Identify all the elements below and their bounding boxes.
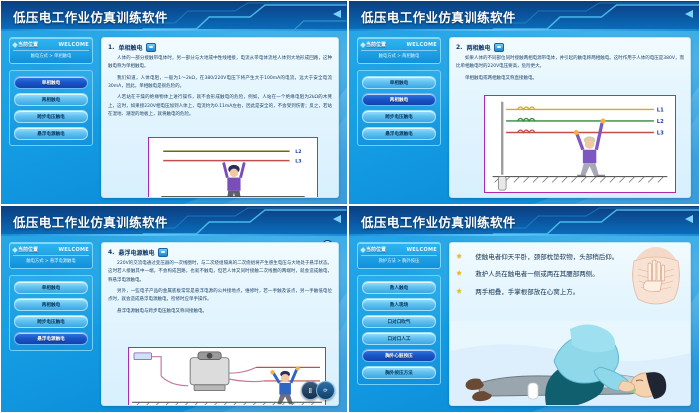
section-heading: 1. 单相触电 <box>108 43 332 52</box>
sidebar-header: 当前位置 WELCOME 触电方式 > 两相触电 <box>357 37 441 64</box>
two-phase-shock-figure: L1 L2 L3 <box>484 95 676 193</box>
app-title: 低压电工作业仿真训练软件 <box>361 212 516 231</box>
sidebar: 当前位置 WELCOME 救护方法 > 胸外按压 救人触电 救人现场 口对口吹气… <box>357 242 441 406</box>
arrow-left-icon[interactable] <box>333 10 341 18</box>
book-icon <box>494 43 504 52</box>
svg-text:L2: L2 <box>295 149 301 155</box>
star-icon: ★ <box>456 253 462 260</box>
app-header: 低压电工作业仿真训练软件 <box>349 1 699 31</box>
diamond-icon <box>360 247 366 253</box>
svg-text:L2: L2 <box>657 119 664 125</box>
sidebar-item-2[interactable]: 救人现场 <box>362 298 436 311</box>
chest-anatomy-figure <box>624 245 688 307</box>
paragraph-2: 单相触电或两相触电又称直接触电。 <box>456 75 684 83</box>
slide-stage: 当前位置 WELCOME 救护方法 > 胸外按压 救人触电 救人现场 口对口吹气… <box>349 236 699 412</box>
location-indicator: 当前位置 <box>13 41 38 48</box>
location-label: 当前位置 <box>366 246 386 253</box>
sidebar-item-1[interactable]: 单相触电 <box>14 281 88 294</box>
sidebar-menu: 单相触电 两相触电 跨步电压触电 悬浮电源触电 <box>357 70 441 146</box>
sidebar-item-3[interactable]: 跨步电压触电 <box>362 110 436 123</box>
refresh-button[interactable]: ⟳ <box>316 381 335 400</box>
location-label: 当前位置 <box>366 41 386 48</box>
paragraph-2: 另外，一些电子产品的金属底板常常是悬浮电源的公共接地点，维修时，若一手触及该点，… <box>108 288 332 305</box>
arrow-left-icon[interactable] <box>685 10 693 18</box>
sidebar: 当前位置 WELCOME 触电方式 > 悬浮电源触电 单相触电 两相触电 跨步电… <box>9 242 93 406</box>
sidebar-menu: 单相触电 两相触电 跨步电压触电 悬浮电源触电 <box>9 275 93 351</box>
sidebar-item-2[interactable]: 两相触电 <box>362 93 436 106</box>
app-header: 低压电工作业仿真训练软件 <box>1 206 347 236</box>
location-label: 当前位置 <box>18 41 38 48</box>
section-title: 两相触电 <box>466 43 490 52</box>
location-label: 当前位置 <box>18 246 38 253</box>
slide-2: 低压电工作业仿真训练软件 >>>>>>>> 当前位置 WEL <box>348 0 700 205</box>
sidebar: 当前位置 WELCOME 触电方式 > 单相触电 单相触电 两相触电 跨步电压触… <box>9 37 93 198</box>
breadcrumb: 触电方式 > 悬浮电源触电 <box>13 255 89 264</box>
section-heading: 4. 悬浮电源触电 <box>108 248 332 257</box>
sidebar-header: 当前位置 WELCOME 触电方式 > 单相触电 <box>9 37 93 64</box>
app-title: 低压电工作业仿真训练软件 <box>361 7 516 26</box>
section-number: 4. <box>108 249 114 256</box>
sidebar-item-4[interactable]: 悬浮电源触电 <box>14 332 88 345</box>
section-number: 1. <box>108 44 114 51</box>
section-title: 单相触电 <box>118 43 142 52</box>
instruction-text-1: 使触电者仰天平卧，颈部枕垫软物，头部稍后仰。 <box>465 252 618 263</box>
app-header: 低压电工作业仿真训练软件 <box>349 206 699 236</box>
sidebar-item-1[interactable]: 救人触电 <box>362 281 436 294</box>
sidebar-item-3[interactable]: 口对口吹气 <box>362 315 436 328</box>
sidebar: 当前位置 WELCOME 触电方式 > 两相触电 单相触电 两相触电 跨步电压触… <box>357 37 441 198</box>
breadcrumb: 触电方式 > 单相触电 <box>13 50 89 59</box>
cpr-illustration <box>450 321 690 405</box>
sidebar-menu: 单相触电 两相触电 跨步电压触电 悬浮电源触电 <box>9 70 93 146</box>
sidebar-item-6[interactable]: 胸外按压方法 <box>362 366 436 379</box>
sidebar-item-1[interactable]: 单相触电 <box>14 76 88 89</box>
sidebar-item-1[interactable]: 单相触电 <box>362 76 436 89</box>
sidebar-item-2[interactable]: 两相触电 <box>14 298 88 311</box>
location-indicator: 当前位置 <box>13 246 38 253</box>
star-icon: ★ <box>456 288 462 295</box>
sidebar-item-4[interactable]: 悬浮电源触电 <box>14 127 88 140</box>
content-panel: 1. 单相触电 人体的一部分接触带电体时，另一部分与大地或中性线相接，电流从带电… <box>101 37 339 198</box>
diamond-icon <box>12 42 18 48</box>
slide-3: 低压电工作业仿真训练软件 >>>>>>>> 当前位置 <box>0 205 348 413</box>
arrow-left-icon[interactable] <box>685 215 693 223</box>
sidebar-item-5[interactable]: 胸外心脏按压 <box>362 349 436 362</box>
single-phase-shock-figure: L2 L3 <box>148 137 318 198</box>
welcome-label: WELCOME <box>58 42 89 48</box>
book-icon <box>146 43 156 52</box>
sidebar-item-4[interactable]: 口对口人工 <box>362 332 436 345</box>
slide-stage: 当前位置 WELCOME 触电方式 > 单相触电 单相触电 两相触电 跨步电压触… <box>1 31 347 204</box>
paragraph-3: 悬浮电源触电与跨步电压触电又称间接触电。 <box>108 308 332 316</box>
svg-text:L1: L1 <box>657 107 664 113</box>
instruction-text-3: 两手相叠，手掌根部放在心窝上方。 <box>465 287 579 298</box>
paragraph-1: 220V的交流电通过变压器的一次线圈时，与二次绕组隔离的二次绕组将产生感生电压与… <box>108 260 332 285</box>
app-header: 低压电工作业仿真训练软件 <box>1 1 347 31</box>
welcome-label: WELCOME <box>406 42 437 48</box>
diamond-icon <box>12 247 18 253</box>
breadcrumb: 救护方法 > 胸外按压 <box>361 255 437 264</box>
slide-stage: 当前位置 WELCOME 触电方式 > 两相触电 单相触电 两相触电 跨步电压触… <box>349 31 699 204</box>
slide-stage: 当前位置 WELCOME 触电方式 > 悬浮电源触电 单相触电 两相触电 跨步电… <box>1 236 347 412</box>
sidebar-header: 当前位置 WELCOME 触电方式 > 悬浮电源触电 <box>9 242 93 269</box>
sidebar-item-3[interactable]: 跨步电压触电 <box>14 315 88 328</box>
slide-grid: 低压电工作业仿真训练软件 >>>>>>>> 当前位置 WEL <box>0 0 700 413</box>
section-number: 2. <box>456 44 462 51</box>
section-title: 悬浮电源触电 <box>118 248 154 257</box>
breadcrumb: 触电方式 > 两相触电 <box>361 50 437 59</box>
slide-1: 低压电工作业仿真训练软件 >>>>>>>> 当前位置 WEL <box>0 0 348 205</box>
section-heading: 2. 两相触电 <box>456 43 684 52</box>
app-title: 低压电工作业仿真训练软件 <box>13 7 168 26</box>
slide-4: 低压电工作业仿真训练软件 >>>>>>>> 当前位置 WELCOME <box>348 205 700 413</box>
arrow-left-icon[interactable] <box>333 215 341 223</box>
content-panel: 2. 两相触电 如果人体的不同部位同时接触两相电源带电体，并引起的触电称两相触电… <box>449 37 691 198</box>
sidebar-item-4[interactable]: 悬浮电源触电 <box>362 127 436 140</box>
paragraph-3: 人若站在干燥的绝缘物体上进行操作，就不会形成触电的危险，例如，人站在一个绝缘电阻… <box>108 94 332 119</box>
welcome-label: WELCOME <box>58 247 89 253</box>
content-panel: ★ 使触电者仰天平卧，颈部枕垫软物，头部稍后仰。 ★ 救护人员在触电者一侧或两在… <box>449 242 691 406</box>
location-indicator: 当前位置 <box>361 246 386 253</box>
sidebar-item-2[interactable]: 两相触电 <box>14 93 88 106</box>
floating-controls: ⣿ ⟳ <box>301 381 335 400</box>
floating-source-shock-figure <box>128 347 326 406</box>
location-indicator: 当前位置 <box>361 41 386 48</box>
svg-text:L3: L3 <box>657 130 664 136</box>
welcome-label: WELCOME <box>406 247 437 253</box>
sidebar-menu: 救人触电 救人现场 口对口吹气 口对口人工 胸外心脏按压 胸外按压方法 <box>357 275 441 385</box>
book-icon <box>158 248 168 257</box>
svg-text:L3: L3 <box>295 159 301 165</box>
instruction-text-2: 救护人员在触电者一侧或两在其腰部两侧。 <box>465 269 599 280</box>
paragraph-1: 人体的一部分接触带电体时，另一部分与大地或中性线相接，电流从带电体流经人体到大地… <box>108 55 332 72</box>
paragraph-1: 如果人体的不同部位同时接触两相电源带电体，并引起的触电称两相触电。这时作用于人体… <box>456 55 684 72</box>
diamond-icon <box>360 42 366 48</box>
star-icon: ★ <box>456 270 462 277</box>
sidebar-header: 当前位置 WELCOME 救护方法 > 胸外按压 <box>357 242 441 269</box>
paragraph-2: 我们知道，人体电阻，一般为1～2kΩ，在380/220V电压下将产生大于100m… <box>108 75 332 92</box>
app-title: 低压电工作业仿真训练软件 <box>13 212 168 231</box>
sidebar-item-3[interactable]: 跨步电压触电 <box>14 110 88 123</box>
